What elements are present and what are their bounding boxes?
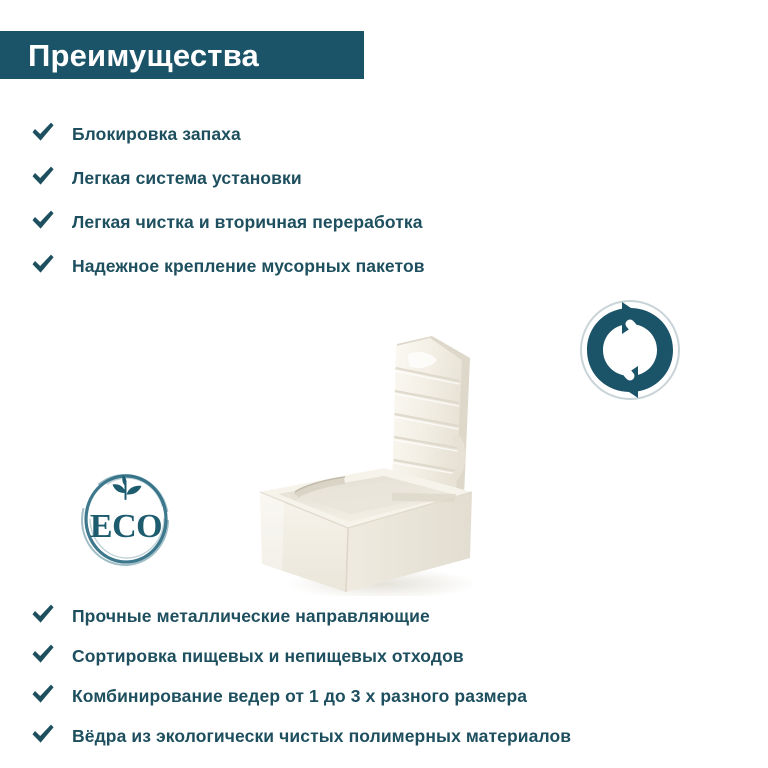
check-icon	[30, 164, 56, 190]
check-icon	[30, 722, 56, 748]
check-icon	[30, 642, 56, 668]
svg-text:ECO: ECO	[90, 508, 162, 545]
check-icon	[30, 252, 56, 278]
list-item: Блокировка запаха	[0, 112, 425, 156]
list-item: Вёдра из экологически чистых полимерных …	[0, 716, 571, 756]
check-icon	[30, 120, 56, 146]
trash-bin-photo	[232, 296, 532, 596]
list-item: Надежное крепление мусорных пакетов	[0, 244, 425, 288]
check-icon	[30, 682, 56, 708]
feature-list-top: Блокировка запаха Легкая система установ…	[0, 112, 425, 288]
list-item: Прочные металлические направляющие	[0, 596, 571, 636]
list-item: Комбинирование ведер от 1 до 3 х разного…	[0, 676, 571, 716]
list-item: Легкая чистка и вторичная переработка	[0, 200, 425, 244]
green-dot-recycling-icon	[578, 298, 682, 402]
eco-badge-icon: ECO	[78, 466, 174, 570]
list-item: Легкая система установки	[0, 156, 425, 200]
feature-label: Легкая система установки	[72, 168, 302, 189]
page-title: Преимущества	[0, 40, 259, 71]
feature-label: Прочные металлические направляющие	[72, 606, 430, 627]
feature-label: Сортировка пищевых и непищевых отходов	[72, 646, 464, 667]
check-icon	[30, 602, 56, 628]
promo-page: Преимущества Блокировка запаха Легкая си…	[0, 0, 768, 768]
feature-label: Блокировка запаха	[72, 124, 241, 145]
list-item: Сортировка пищевых и непищевых отходов	[0, 636, 571, 676]
feature-list-bottom: Прочные металлические направляющие Сорти…	[0, 596, 571, 756]
page-title-banner: Преимущества	[0, 31, 364, 79]
check-icon	[30, 208, 56, 234]
feature-label: Надежное крепление мусорных пакетов	[72, 256, 425, 277]
feature-label: Комбинирование ведер от 1 до 3 х разного…	[72, 686, 527, 707]
feature-label: Легкая чистка и вторичная переработка	[72, 212, 423, 233]
feature-label: Вёдра из экологически чистых полимерных …	[72, 726, 571, 747]
